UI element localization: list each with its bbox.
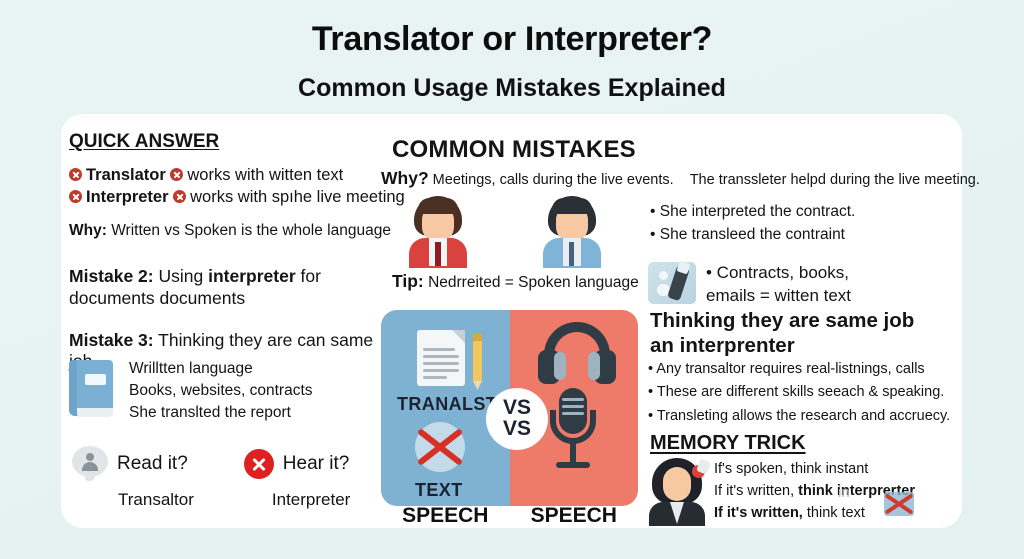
memory-line-3-a: If it's written, [714, 505, 803, 521]
vs-panel-captions: SPEECH SPEECH [381, 504, 638, 528]
mistake-2-bold: interpreter [208, 266, 296, 286]
compare-block: Read it? Hear it? Transaltor Interpreter [72, 446, 392, 510]
quick-answer-row-translator: Translator works with witten text [69, 166, 343, 185]
same-job-bullet-2: • These are different skills seeach & sp… [648, 381, 950, 404]
x-circle-icon [244, 449, 274, 479]
infographic-canvas: Translator or Interpreter? Common Usage … [0, 0, 1024, 559]
panel-left-label-2: TEXT [415, 480, 463, 501]
marker-pen-icon [648, 262, 696, 304]
pen-block: • Contracts, books, emails = witten text [648, 262, 851, 308]
x-badge-icon [170, 168, 183, 181]
mistake-2-label: Mistake 2: [69, 266, 154, 286]
quick-answer-row-interpreter: Interpreter works with spıhe live meetin… [69, 188, 405, 207]
same-job-bullet-1: • Any transaltor requires real-listnings… [648, 358, 950, 381]
common-why-text: Meetings, calls during the live events. [433, 172, 674, 188]
written-language-line-1: Wrilltten language [129, 358, 313, 380]
quick-answer-desc-interpreter: works with spıhe live meeting [190, 188, 405, 206]
quick-answer-term-translator: Translator [86, 166, 166, 184]
quick-answer-term-interpreter: Interpreter [86, 188, 169, 206]
memory-line-3-b: think text [807, 505, 865, 521]
mini-badge-icon [692, 460, 710, 478]
headphones-icon [538, 322, 616, 392]
avatar-red-suit [405, 196, 471, 266]
written-language-line-2: Books, websites, contracts [129, 380, 313, 402]
why-text: Written vs Spoken is the whole language [111, 222, 391, 239]
same-job-line-2: an interprenter [650, 333, 950, 358]
page-title: Translator or Interpreter? [0, 20, 1024, 59]
same-job-heading: Thinking they are same job an interprent… [650, 308, 950, 358]
avatar-pair [405, 196, 605, 266]
compare-hear-answer: Interpreter [272, 490, 350, 510]
written-language-text: Wrilltten language Books, websites, cont… [129, 358, 313, 424]
pen-line-2: emails = witten text [706, 285, 851, 308]
compare-read-question: Read it? [117, 453, 188, 475]
translator-vs-interpreter-panel: TRANALSTOR TEXT VS VS [381, 310, 638, 506]
written-language-block: Wrilltten language Books, websites, cont… [69, 358, 313, 424]
same-job-line-1: Thinking they are same job [650, 308, 950, 333]
page-subtitle: Common Usage Mistakes Explained [0, 74, 1024, 103]
compare-hear-question: Hear it? [283, 453, 350, 475]
vs-caption-left: SPEECH [381, 504, 510, 528]
common-why-label: Why? [381, 168, 429, 188]
written-language-line-3: She translted the report [129, 402, 313, 424]
common-why-text-2: The transsleter helpd during the live me… [690, 172, 980, 188]
book-icon [69, 358, 115, 420]
compare-hear-item: Hear it? [244, 449, 350, 479]
compare-read-item: Read it? [72, 446, 188, 482]
crossed-out-speech-icon [409, 418, 471, 476]
compare-read-answer: Transaltor [118, 490, 194, 510]
mistake-2-pre: Using [159, 266, 204, 286]
quick-answer-desc-translator: works with witten text [187, 166, 343, 184]
right-bullet-list-2: • Any transaltor requires real-listnings… [648, 358, 950, 428]
avatar-blue-shirt [539, 196, 605, 266]
right-bullet-list-1: • She interpreted the contract. • She tr… [650, 200, 855, 247]
memory-line-2-a: If it's written, [714, 483, 794, 499]
vs-caption-right: SPEECH [510, 504, 639, 528]
crossed-out-text-icon [884, 492, 914, 518]
same-job-bullet-3: • Transleting allows the research and ac… [648, 405, 950, 428]
why-label: Why: [69, 222, 107, 239]
x-badge-icon [69, 190, 82, 203]
x-badge-icon [69, 168, 82, 181]
right-bullet-2: • She transleed the contraint [650, 223, 855, 246]
memory-line-1: If's spoken, think instant [714, 458, 915, 480]
right-bullet-1: • She interpreted the contract. [650, 200, 855, 223]
microphone-icon [546, 388, 600, 474]
tip-label: Tip: [392, 271, 424, 291]
memory-trick-heading: MEMORY TRICK [650, 432, 806, 455]
pen-line-1: • Contracts, books, [706, 262, 851, 285]
quick-answer-heading: QUICK ANSWER [69, 131, 219, 153]
document-icon [417, 330, 465, 386]
tip-text: Nedrreited = Spoken language [428, 274, 639, 291]
memory-trick-block: If's spoken, think instant If it's writt… [648, 458, 915, 524]
person-bubble-icon [72, 446, 108, 482]
tip-line: Tip: Nedrreited = Spoken language [392, 271, 639, 292]
memory-ghost-text: in [838, 484, 850, 501]
pen-block-text: • Contracts, books, emails = witten text [706, 262, 851, 308]
x-badge-icon [173, 190, 186, 203]
quick-answer-why: Why: Written vs Spoken is the whole lang… [69, 222, 391, 240]
mistake-2-text: Mistake 2: Using interpreter for documen… [69, 265, 399, 310]
vs-badge-bottom: VS [503, 419, 531, 440]
mistake-3-label: Mistake 3: [69, 330, 154, 350]
vs-badge-top: VS [503, 398, 531, 419]
woman-avatar-icon [648, 458, 706, 524]
vs-badge: VS VS [486, 388, 548, 450]
common-mistakes-why-line: Why? Meetings, calls during the live eve… [381, 168, 980, 189]
common-mistakes-heading: COMMON MISTAKES [392, 136, 636, 164]
pencil-icon [473, 334, 482, 382]
